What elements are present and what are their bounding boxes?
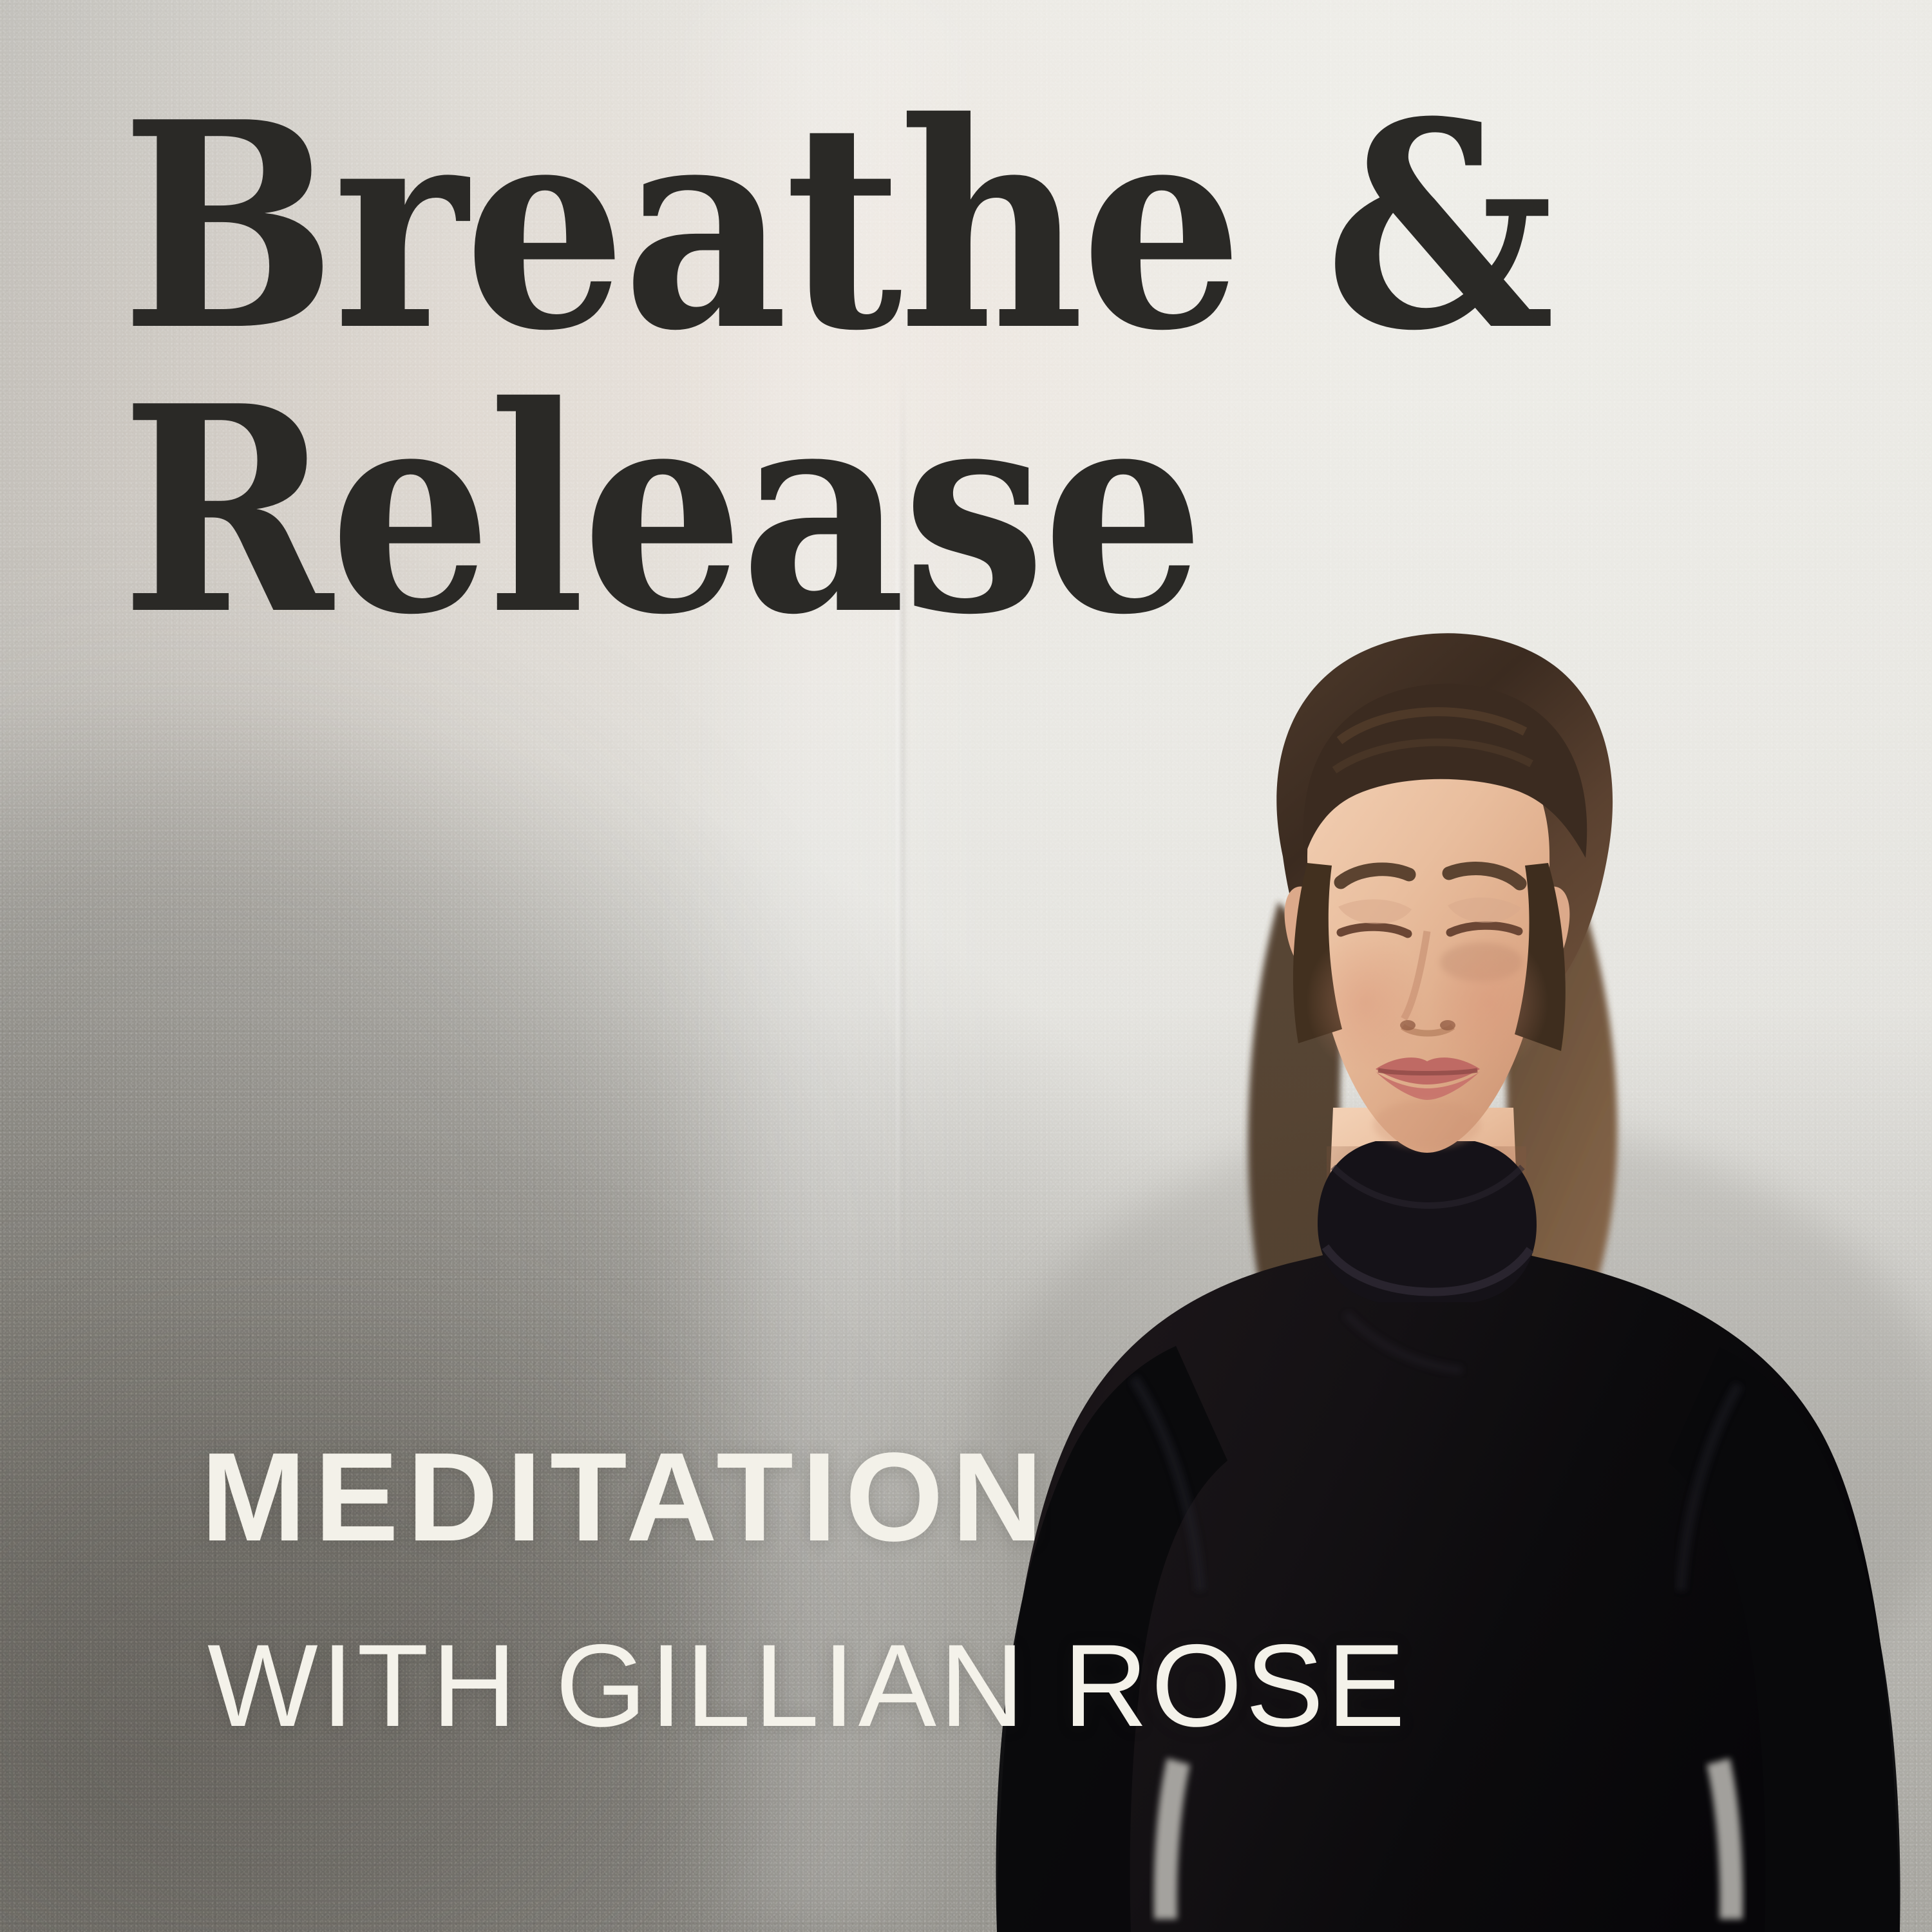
host-byline: WITH GILLIAN ROSE — [207, 1618, 1408, 1753]
podcast-cover-art: Breathe & Release MEDITATION WITH GILLIA… — [0, 0, 1932, 1932]
title-line-1: Breathe & — [121, 97, 1425, 357]
cheek-left — [1306, 931, 1425, 1073]
title-line-2: Release — [121, 381, 1425, 641]
category-label: MEDITATION — [201, 1425, 1051, 1569]
chin-shadow — [1373, 1100, 1481, 1149]
cover-title: Breathe & Release — [121, 97, 1570, 641]
cheek-right — [1430, 931, 1548, 1073]
